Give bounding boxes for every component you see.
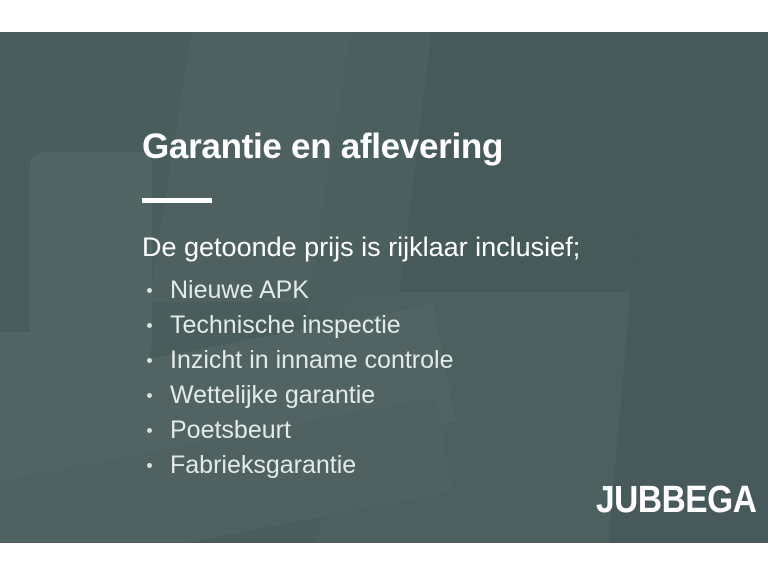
list-item: Technische inspectie bbox=[142, 308, 453, 343]
list-item-label: Poetsbeurt bbox=[170, 416, 291, 444]
bullet-dot-icon bbox=[147, 393, 152, 398]
presentation-slide-frame: Garantie en aflevering De getoonde prijs… bbox=[0, 0, 768, 576]
list-item: Poetsbeurt bbox=[142, 413, 453, 448]
slide-canvas: Garantie en aflevering De getoonde prijs… bbox=[0, 32, 768, 543]
list-item-label: Technische inspectie bbox=[170, 311, 401, 339]
bullet-dot-icon bbox=[147, 463, 152, 468]
brand-logo: JUBBEGA SINDS 1924 bbox=[596, 483, 768, 520]
page-title: Garantie en aflevering bbox=[142, 127, 503, 167]
feature-bullet-list: Nieuwe APK Technische inspectie Inzicht … bbox=[142, 273, 453, 483]
bullet-dot-icon bbox=[147, 358, 152, 363]
list-item: Inzicht in inname controle bbox=[142, 343, 453, 378]
background-letterform-j-stem bbox=[30, 152, 152, 410]
bullet-dot-icon bbox=[147, 428, 152, 433]
background-letterform-j-foot bbox=[0, 332, 150, 450]
list-item-label: Fabrieksgarantie bbox=[170, 451, 356, 479]
list-item-label: Nieuwe APK bbox=[170, 276, 309, 304]
intro-text: De getoonde prijs is rijklaar inclusief; bbox=[142, 232, 580, 263]
title-underline-rule bbox=[142, 198, 212, 203]
logo-wordmark: JUBBEGA bbox=[596, 483, 756, 520]
list-item-label: Inzicht in inname controle bbox=[170, 346, 453, 374]
bullet-dot-icon bbox=[147, 323, 152, 328]
list-item: Wettelijke garantie bbox=[142, 378, 453, 413]
list-item: Nieuwe APK bbox=[142, 273, 453, 308]
list-item-label: Wettelijke garantie bbox=[170, 381, 375, 409]
list-item: Fabrieksgarantie bbox=[142, 448, 453, 483]
bullet-dot-icon bbox=[147, 288, 152, 293]
